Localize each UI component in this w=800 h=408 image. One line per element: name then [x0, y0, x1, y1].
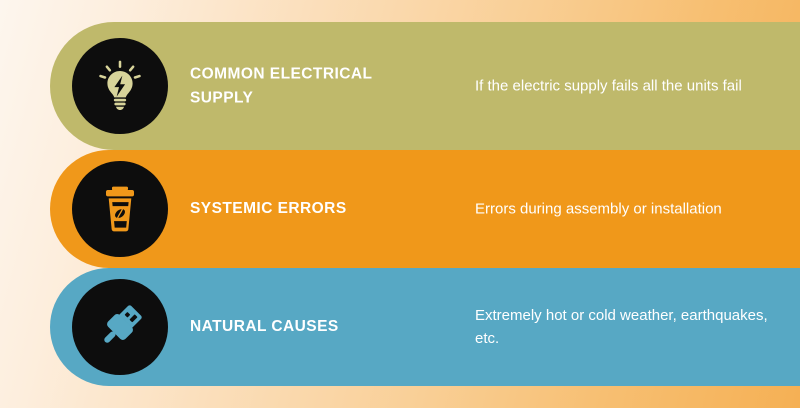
coffee-cup-icon: [72, 161, 168, 257]
description-panel: Extremely hot or cold weather, earthquak…: [435, 268, 800, 386]
usb-plug-icon: [72, 279, 168, 375]
infographic-row-common-electrical-supply[interactable]: If the electric supply fails all the uni…: [0, 22, 800, 150]
description-text: Errors during assembly or installation: [475, 197, 775, 220]
category-title: NATURAL CAUSES: [190, 315, 420, 339]
description-text: Extremely hot or cold weather, earthquak…: [475, 304, 775, 351]
description-panel: Errors during assembly or installation: [435, 150, 800, 268]
category-bar[interactable]: COMMON ELECTRICAL SUPPLY: [50, 22, 440, 150]
infographic-row-natural-causes[interactable]: Extremely hot or cold weather, earthquak…: [0, 268, 800, 386]
category-bar[interactable]: NATURAL CAUSES: [50, 268, 440, 386]
category-title: SYSTEMIC ERRORS: [190, 197, 420, 221]
description-text: If the electric supply fails all the uni…: [475, 74, 775, 97]
lightbulb-bolt-icon: [72, 38, 168, 134]
infographic-row-systemic-errors[interactable]: Errors during assembly or installation: [0, 150, 800, 268]
category-bar[interactable]: SYSTEMIC ERRORS: [50, 150, 440, 268]
description-panel: If the electric supply fails all the uni…: [435, 22, 800, 150]
infographic-container: If the electric supply fails all the uni…: [0, 0, 800, 408]
category-title: COMMON ELECTRICAL SUPPLY: [190, 62, 420, 109]
